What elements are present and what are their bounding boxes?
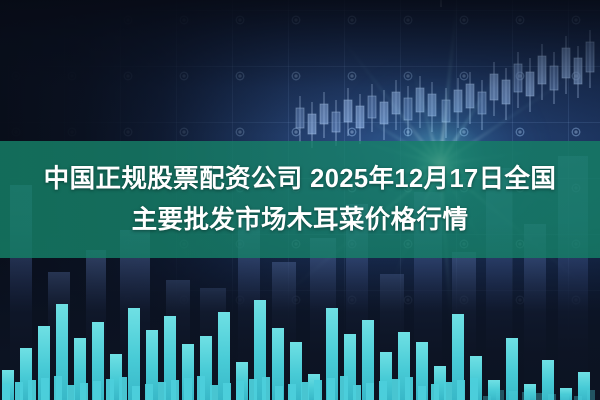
ticker-bar <box>587 390 595 400</box>
ticker-bar <box>496 390 504 400</box>
ticker-bar <box>210 385 218 400</box>
ticker-bar <box>431 384 439 400</box>
ticker-bar <box>535 393 543 400</box>
title-block: 中国正规股票配资公司 2025年12月17日全国 主要批发市场木耳菜价格行情 <box>0 141 600 258</box>
ticker-bar <box>2 384 10 400</box>
ticker-bar <box>171 380 179 400</box>
ticker-bar <box>509 391 517 400</box>
ticker-bar <box>223 383 231 400</box>
ticker-bar <box>522 392 530 400</box>
ticker-bar <box>366 383 374 400</box>
ticker-bar <box>41 378 49 400</box>
ticker-bar <box>483 396 491 400</box>
ticker-bar <box>392 379 400 400</box>
headline-line-1: 中国正规股票配资公司 2025年12月17日全国 <box>44 161 557 197</box>
headline-line-2: 主要批发市场木耳菜价格行情 <box>132 202 469 238</box>
ticker-bar <box>132 386 140 400</box>
ticker-bar <box>28 380 36 400</box>
ticker-bar <box>67 385 75 400</box>
ticker-bar <box>15 382 23 400</box>
ticker-bar <box>288 384 296 400</box>
ticker-bar <box>314 380 322 400</box>
ticker-bar <box>54 376 62 400</box>
ticker-bar <box>197 376 205 400</box>
ticker-bar <box>145 384 153 400</box>
ticker-bar <box>119 377 127 400</box>
ticker-bar <box>275 386 283 400</box>
ticker-bar <box>418 386 426 400</box>
ticker-bar <box>561 395 569 400</box>
ticker-bar <box>301 382 309 400</box>
ticker-bar <box>470 378 478 400</box>
ticker-bar <box>106 379 114 400</box>
ticker-bar <box>548 394 556 400</box>
ticker-bar <box>80 383 88 400</box>
ticker-bar <box>93 381 101 400</box>
banner-image: 中国正规股票配资公司 2025年12月17日全国 主要批发市场木耳菜价格行情 <box>0 0 600 400</box>
ticker-bar <box>249 379 257 400</box>
ticker-bar <box>379 381 387 400</box>
ticker-bar <box>340 376 348 400</box>
ticker-bar <box>353 385 361 400</box>
ticker-bar <box>262 377 270 400</box>
ticker-bar <box>574 396 582 400</box>
ticker-bar <box>405 377 413 400</box>
ticker-bar <box>158 382 166 400</box>
ticker-bar <box>184 378 192 400</box>
ticker-bar <box>327 378 335 400</box>
ticker-bar <box>457 380 465 400</box>
foreground-bar-chart <box>0 240 600 400</box>
ticker-bar <box>444 382 452 400</box>
ticker-bar <box>236 381 244 400</box>
